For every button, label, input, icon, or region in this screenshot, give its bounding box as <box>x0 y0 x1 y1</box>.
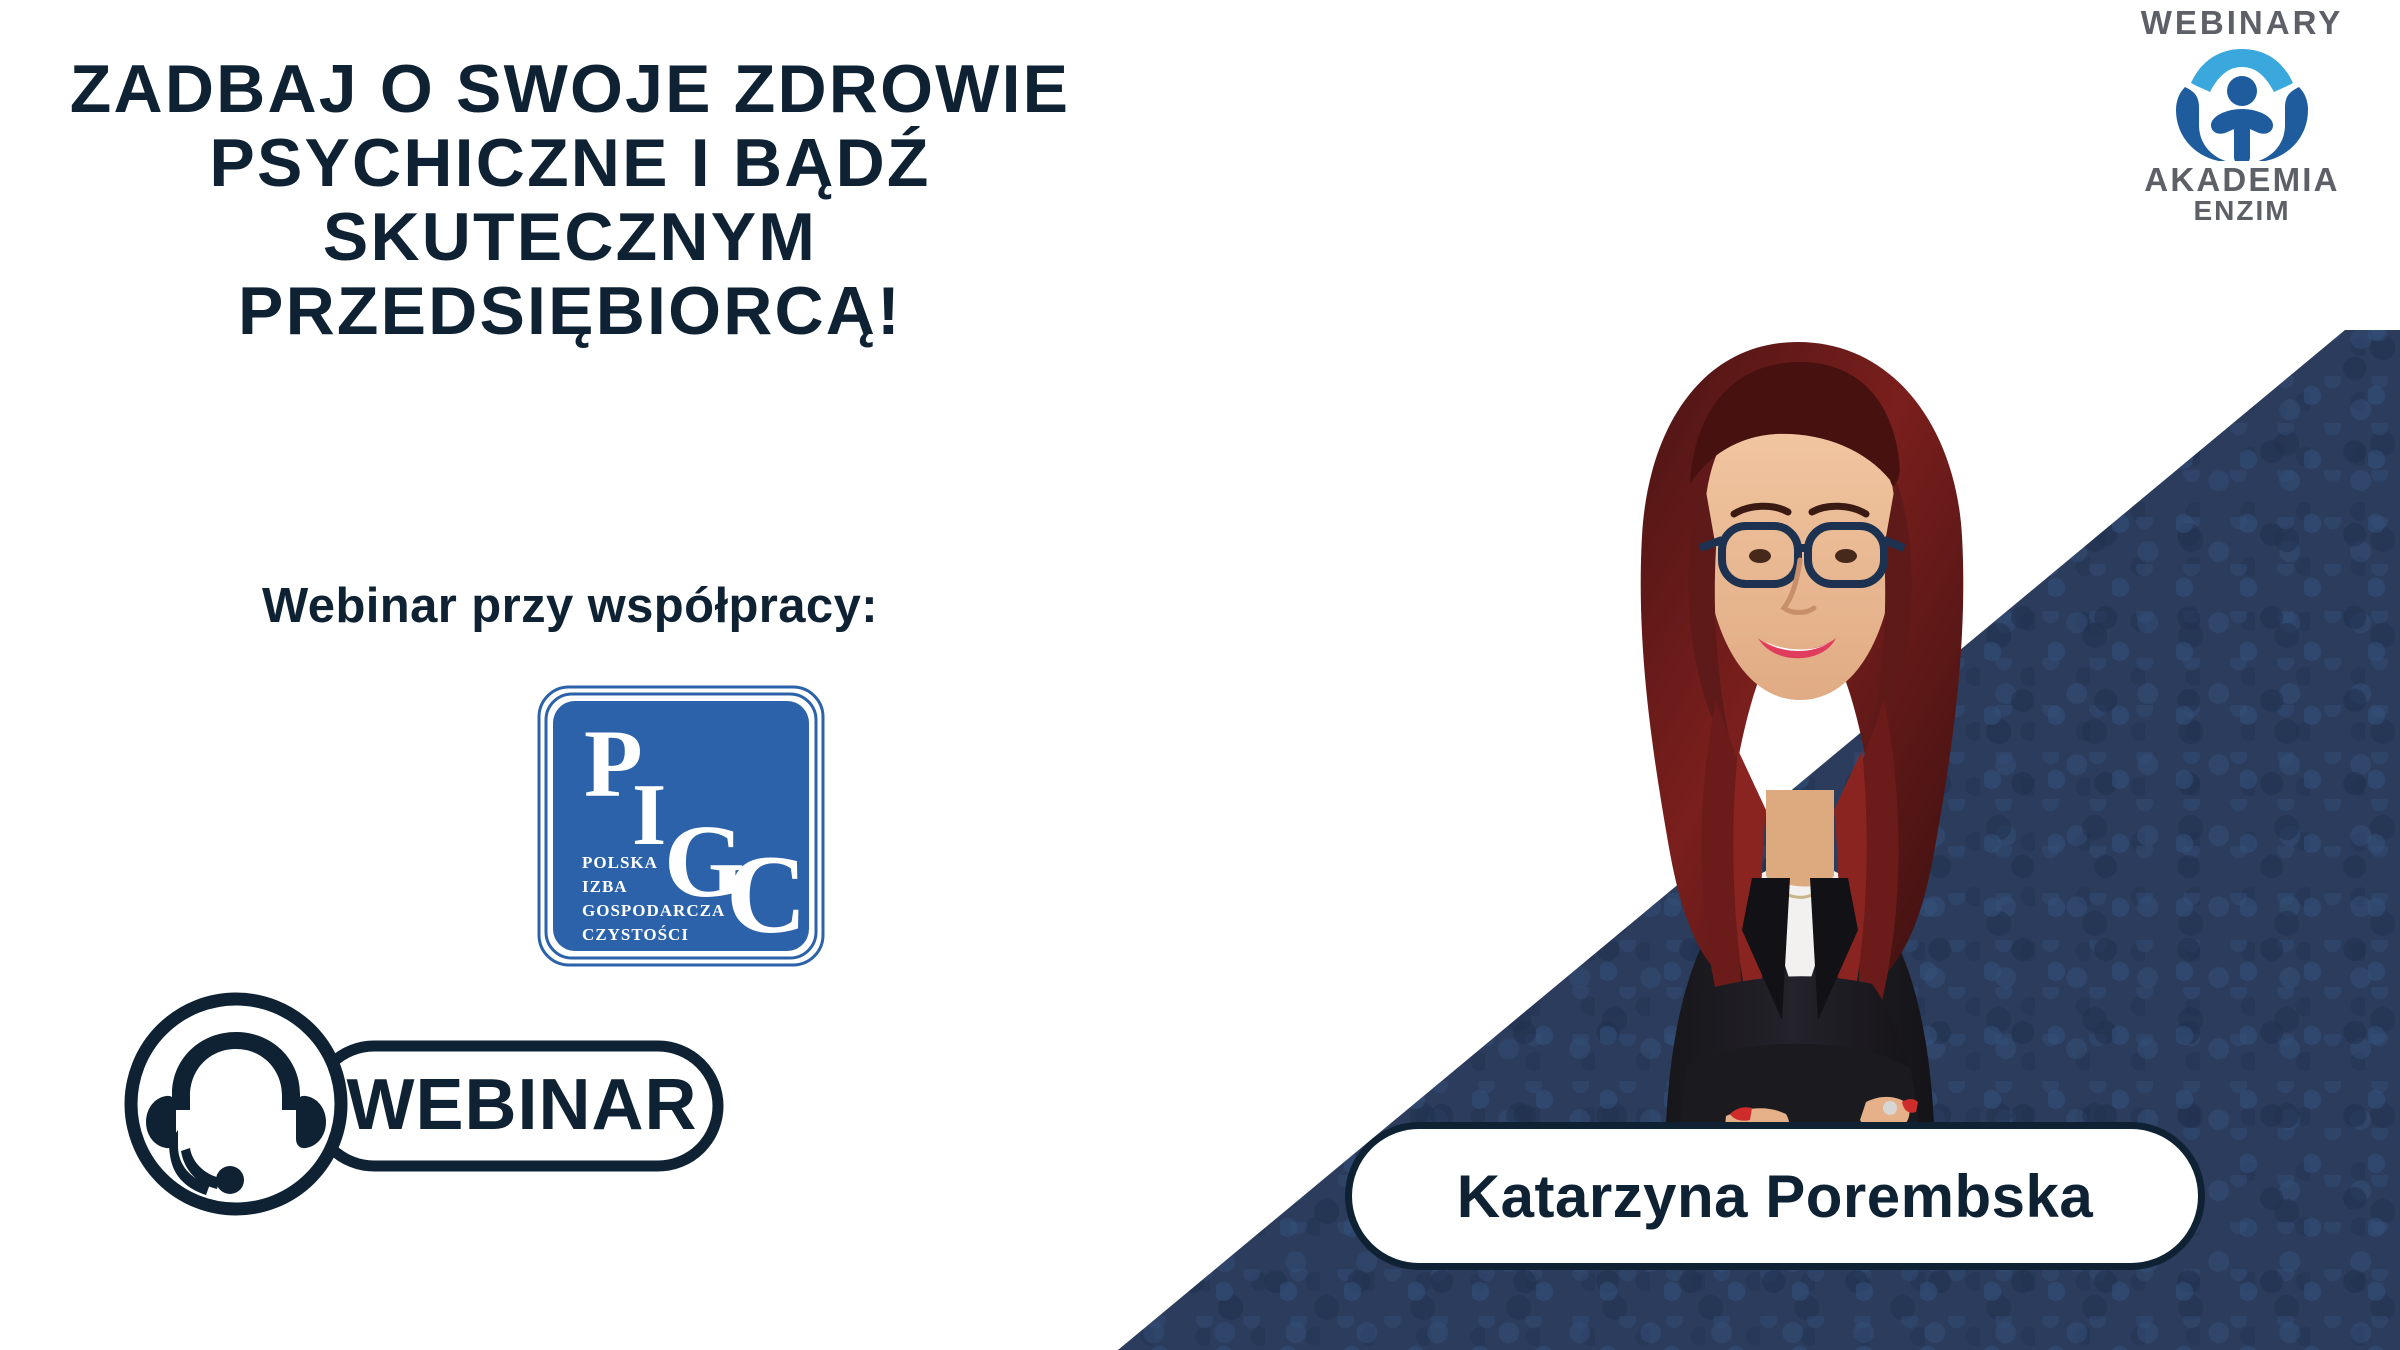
person-in-hands-icon <box>2169 43 2315 161</box>
webinar-promo-poster: ZADBAJ O SWOJE ZDROWIE PSYCHICZNE I BĄDŹ… <box>0 0 2400 1350</box>
pigc-line-1: POLSKA <box>582 853 658 872</box>
speaker-name-badge: Katarzyna Porembska <box>1345 1122 2205 1270</box>
akademia-enzim-brand-logo: WEBINARY AKADEMIA ENZIM <box>2108 6 2376 276</box>
brand-bottom-label-2: ENZIM <box>2108 197 2376 226</box>
webinar-badge: WEBINAR <box>118 984 738 1224</box>
pigc-line-4: CZYSTOŚCI <box>582 925 689 944</box>
brand-top-label: WEBINARY <box>2108 6 2376 39</box>
pigc-line-3: GOSPODARCZA <box>582 901 725 920</box>
pigc-letter-i: I <box>632 767 666 864</box>
headline-line-1: ZADBAJ O SWOJE ZDROWIE <box>60 52 1080 126</box>
webinar-label: WEBINAR <box>347 1065 698 1145</box>
page-title: ZADBAJ O SWOJE ZDROWIE PSYCHICZNE I BĄDŹ… <box>60 52 1080 348</box>
headline-line-4: PRZEDSIĘBIORCĄ! <box>60 274 1080 348</box>
brand-bottom-label-1: AKADEMIA <box>2108 163 2376 197</box>
headline-line-3: SKUTECZNYM <box>60 200 1080 274</box>
pigc-letter-c: C <box>726 833 807 957</box>
pigc-partner-logo: P I G C POLSKA IZBA GOSPODARCZA CZYSTOŚC… <box>536 684 826 968</box>
speaker-name: Katarzyna Porembska <box>1457 1162 2093 1231</box>
headline-line-2: PSYCHICZNE I BĄDŹ <box>60 126 1080 200</box>
collaboration-subtitle: Webinar przy współpracy: <box>60 578 1080 634</box>
pigc-line-2: IZBA <box>582 877 628 896</box>
speaker-portrait <box>1490 230 2110 1240</box>
